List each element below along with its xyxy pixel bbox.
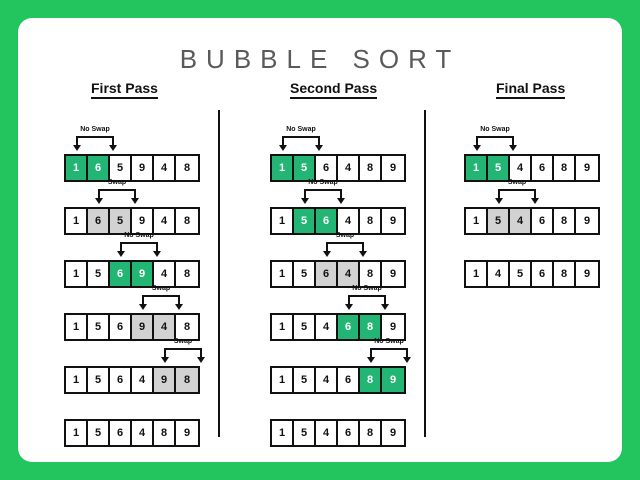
arrow-head-right-icon: [109, 145, 117, 151]
bracket-bar: [98, 189, 136, 191]
compare-arrow-bracket: [345, 295, 389, 311]
arrow-head-left-icon: [161, 357, 169, 363]
array-row: 154689: [464, 154, 600, 182]
array-cell: 8: [554, 156, 576, 180]
arrow-head-left-icon: [367, 357, 375, 363]
compare-arrow-bracket: [161, 348, 205, 364]
compare-arrow-bracket: [279, 136, 323, 152]
bracket-bar: [120, 242, 158, 244]
array-cell: 4: [510, 209, 532, 233]
array-cell: 9: [382, 262, 404, 286]
array-cell: 6: [532, 262, 554, 286]
array-cell: 1: [66, 209, 88, 233]
arrow-head-left-icon: [139, 304, 147, 310]
array-cell: 5: [294, 209, 316, 233]
array-cell: 9: [382, 156, 404, 180]
arrow-head-left-icon: [495, 198, 503, 204]
swap-label: No Swap: [465, 126, 525, 133]
array-cell: 6: [110, 421, 132, 445]
array-cell: 5: [510, 262, 532, 286]
array-cell: 5: [88, 368, 110, 392]
array-cell: 9: [382, 421, 404, 445]
column-divider-2: [424, 110, 426, 437]
array-cell: 1: [272, 156, 294, 180]
bracket-bar: [370, 348, 408, 350]
array-cell: 1: [272, 262, 294, 286]
swap-label: Swap: [153, 338, 213, 345]
array-cell: 8: [176, 262, 198, 286]
array-cell: 5: [294, 156, 316, 180]
array-cell: 9: [132, 262, 154, 286]
array-cell: 5: [294, 262, 316, 286]
array-cell: 9: [176, 421, 198, 445]
pass-heading: First Pass: [91, 80, 158, 99]
bracket-bar: [164, 348, 202, 350]
array-row: 156489: [270, 154, 406, 182]
array-cell: 8: [176, 368, 198, 392]
array-row: 156489: [270, 260, 406, 288]
array-row: 154689: [270, 419, 406, 447]
array-cell: 8: [360, 368, 382, 392]
array-cell: 1: [466, 209, 488, 233]
array-cell: 4: [316, 315, 338, 339]
array-cell: 6: [338, 315, 360, 339]
arrow-head-right-icon: [403, 357, 411, 363]
array-cell: 4: [154, 156, 176, 180]
array-cell: 8: [176, 209, 198, 233]
diagram-card: BUBBLE SORT First Pass165948No Swap16594…: [18, 18, 622, 462]
swap-label: No Swap: [337, 285, 397, 292]
page-title: BUBBLE SORT: [18, 44, 622, 75]
swap-label: Swap: [315, 232, 375, 239]
array-row: 156489: [64, 419, 200, 447]
array-row: 156948: [64, 313, 200, 341]
compare-arrow-bracket: [95, 189, 139, 205]
array-cell: 4: [132, 421, 154, 445]
array-cell: 8: [154, 421, 176, 445]
array-cell: 4: [154, 262, 176, 286]
array-cell: 1: [466, 262, 488, 286]
array-cell: 5: [488, 156, 510, 180]
array-cell: 9: [382, 315, 404, 339]
array-cell: 5: [294, 315, 316, 339]
array-row: 145689: [464, 260, 600, 288]
arrow-head-left-icon: [73, 145, 81, 151]
swap-label: Swap: [487, 179, 547, 186]
swap-label: Swap: [87, 179, 147, 186]
array-row: 154689: [464, 207, 600, 235]
array-cell: 9: [154, 368, 176, 392]
array-cell: 4: [316, 421, 338, 445]
array-cell: 8: [360, 315, 382, 339]
arrow-head-right-icon: [531, 198, 539, 204]
pass-heading: Final Pass: [496, 80, 565, 99]
arrow-head-right-icon: [509, 145, 517, 151]
arrow-head-right-icon: [381, 304, 389, 310]
array-row: 154689: [270, 313, 406, 341]
arrow-head-left-icon: [279, 145, 287, 151]
array-cell: 5: [88, 315, 110, 339]
bracket-bar: [76, 136, 114, 138]
array-cell: 6: [88, 209, 110, 233]
array-cell: 1: [466, 156, 488, 180]
bracket-bar: [304, 189, 342, 191]
arrow-head-right-icon: [153, 251, 161, 257]
array-cell: 1: [66, 368, 88, 392]
array-cell: 9: [132, 209, 154, 233]
array-cell: 8: [554, 209, 576, 233]
array-cell: 1: [66, 421, 88, 445]
array-cell: 6: [316, 209, 338, 233]
array-cell: 9: [576, 262, 598, 286]
compare-arrow-bracket: [301, 189, 345, 205]
bracket-bar: [282, 136, 320, 138]
swap-label: No Swap: [293, 179, 353, 186]
pass-heading: Second Pass: [290, 80, 377, 99]
array-cell: 1: [272, 315, 294, 339]
compare-arrow-bracket: [367, 348, 411, 364]
array-cell: 8: [176, 156, 198, 180]
array-cell: 5: [110, 209, 132, 233]
arrow-head-right-icon: [359, 251, 367, 257]
array-row: 154689: [270, 366, 406, 394]
array-cell: 5: [488, 209, 510, 233]
column-divider-1: [218, 110, 220, 437]
array-cell: 6: [532, 156, 554, 180]
bracket-bar: [498, 189, 536, 191]
arrow-head-left-icon: [117, 251, 125, 257]
array-cell: 4: [338, 209, 360, 233]
array-cell: 9: [132, 156, 154, 180]
array-cell: 4: [154, 209, 176, 233]
array-cell: 9: [132, 315, 154, 339]
bracket-bar: [476, 136, 514, 138]
arrow-head-right-icon: [337, 198, 345, 204]
array-cell: 6: [338, 368, 360, 392]
array-row: 165948: [64, 207, 200, 235]
arrow-head-left-icon: [95, 198, 103, 204]
array-cell: 9: [382, 209, 404, 233]
array-cell: 9: [576, 209, 598, 233]
array-cell: 5: [88, 421, 110, 445]
array-cell: 4: [132, 368, 154, 392]
arrow-head-right-icon: [197, 357, 205, 363]
array-cell: 5: [294, 368, 316, 392]
bracket-bar: [348, 295, 386, 297]
array-cell: 6: [316, 156, 338, 180]
array-cell: 8: [360, 262, 382, 286]
array-cell: 4: [338, 262, 360, 286]
arrow-head-left-icon: [473, 145, 481, 151]
compare-arrow-bracket: [139, 295, 183, 311]
array-cell: 8: [360, 156, 382, 180]
arrow-head-right-icon: [175, 304, 183, 310]
compare-arrow-bracket: [473, 136, 517, 152]
array-cell: 4: [154, 315, 176, 339]
swap-label: No Swap: [359, 338, 419, 345]
compare-arrow-bracket: [323, 242, 367, 258]
arrow-head-left-icon: [301, 198, 309, 204]
array-cell: 8: [176, 315, 198, 339]
arrow-head-right-icon: [315, 145, 323, 151]
arrow-head-left-icon: [323, 251, 331, 257]
array-cell: 4: [338, 156, 360, 180]
array-cell: 4: [316, 368, 338, 392]
array-cell: 1: [66, 315, 88, 339]
array-cell: 1: [66, 156, 88, 180]
array-cell: 1: [272, 368, 294, 392]
swap-label: Swap: [131, 285, 191, 292]
arrow-head-left-icon: [345, 304, 353, 310]
bracket-bar: [142, 295, 180, 297]
array-cell: 1: [272, 209, 294, 233]
swap-label: No Swap: [271, 126, 331, 133]
array-cell: 8: [554, 262, 576, 286]
array-row: 165948: [64, 154, 200, 182]
array-row: 156948: [64, 260, 200, 288]
array-cell: 8: [360, 209, 382, 233]
array-cell: 5: [110, 156, 132, 180]
array-cell: 6: [338, 421, 360, 445]
array-row: 156498: [64, 366, 200, 394]
array-cell: 5: [88, 262, 110, 286]
bracket-bar: [326, 242, 364, 244]
compare-arrow-bracket: [495, 189, 539, 205]
compare-arrow-bracket: [73, 136, 117, 152]
array-cell: 1: [272, 421, 294, 445]
array-cell: 5: [294, 421, 316, 445]
swap-label: No Swap: [109, 232, 169, 239]
array-cell: 9: [382, 368, 404, 392]
array-cell: 6: [88, 156, 110, 180]
array-cell: 6: [110, 262, 132, 286]
array-cell: 6: [316, 262, 338, 286]
array-cell: 6: [532, 209, 554, 233]
array-cell: 6: [110, 315, 132, 339]
array-cell: 1: [66, 262, 88, 286]
compare-arrow-bracket: [117, 242, 161, 258]
array-cell: 8: [360, 421, 382, 445]
array-cell: 4: [488, 262, 510, 286]
array-row: 156489: [270, 207, 406, 235]
arrow-head-right-icon: [131, 198, 139, 204]
array-cell: 9: [576, 156, 598, 180]
swap-label: No Swap: [65, 126, 125, 133]
array-cell: 6: [110, 368, 132, 392]
array-cell: 4: [510, 156, 532, 180]
